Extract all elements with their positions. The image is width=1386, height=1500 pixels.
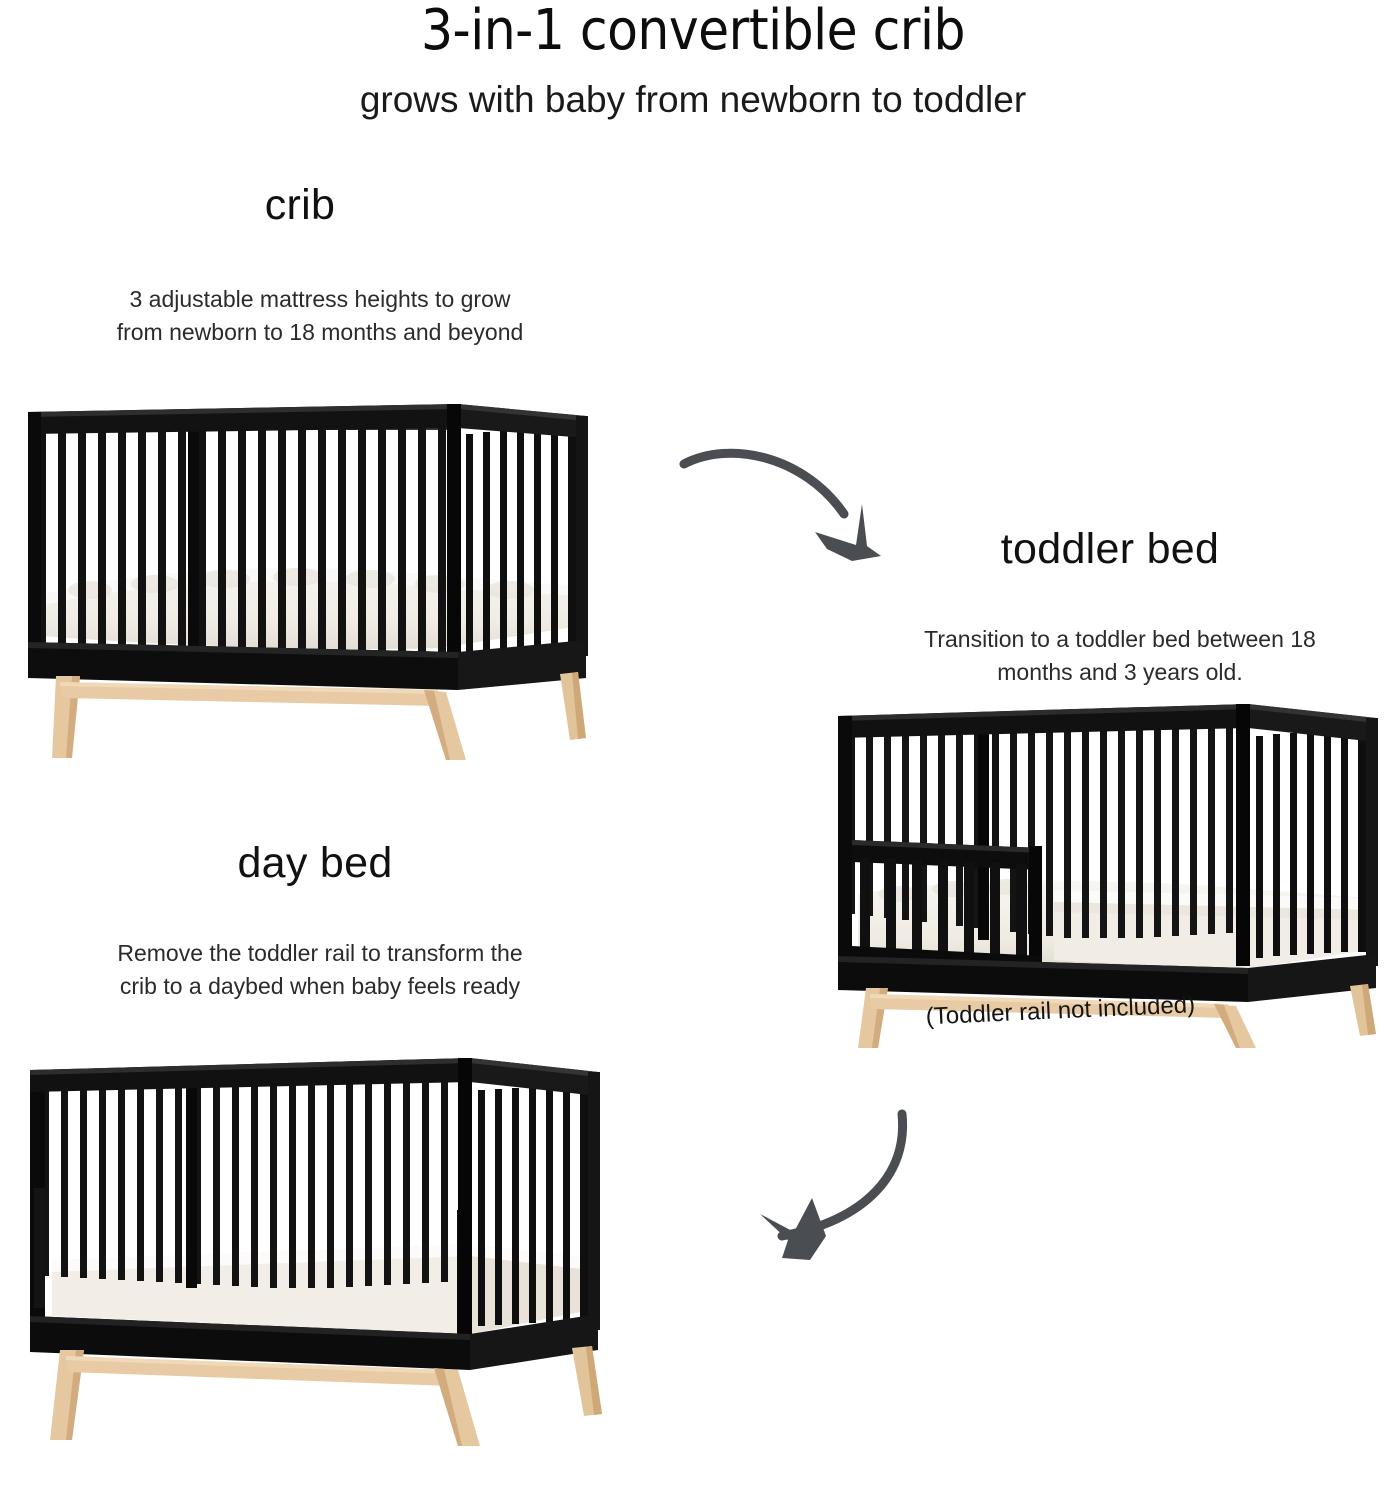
crib-front-slats — [38, 416, 446, 658]
section-heading-crib: crib — [0, 182, 600, 229]
section-body-toddler-bed: Transition to a toddler bed between 18 m… — [860, 623, 1380, 690]
section-body-daybed-line1: Remove the toddler rail to transform the — [20, 937, 620, 970]
section-body-toddler-line2: months and 3 years old. — [860, 656, 1380, 689]
section-body-crib: 3 adjustable mattress heights to grow fr… — [20, 283, 620, 350]
arrow-toddler-to-daybed-icon — [716, 1078, 986, 1313]
section-body-daybed-line2: crib to a daybed when baby feels ready — [20, 970, 620, 1003]
crib-illustration — [20, 390, 620, 760]
day-bed-illustration — [20, 1048, 620, 1448]
section-heading-day-bed: day bed — [0, 840, 630, 887]
section-body-crib-line2: from newborn to 18 months and beyond — [20, 316, 620, 349]
daybed-left-end-post — [30, 1070, 45, 1342]
section-body-crib-line1: 3 adjustable mattress heights to grow — [20, 283, 620, 316]
section-body-day-bed: Remove the toddler rail to transform the… — [20, 937, 620, 1004]
section-heading-toddler-bed: toddler bed — [840, 526, 1380, 573]
section-body-toddler-line1: Transition to a toddler bed between 18 — [860, 623, 1380, 656]
page-subtitle: grows with baby from newborn to toddler — [0, 78, 1386, 122]
page-title: 3-in-1 convertible crib — [0, 2, 1386, 61]
